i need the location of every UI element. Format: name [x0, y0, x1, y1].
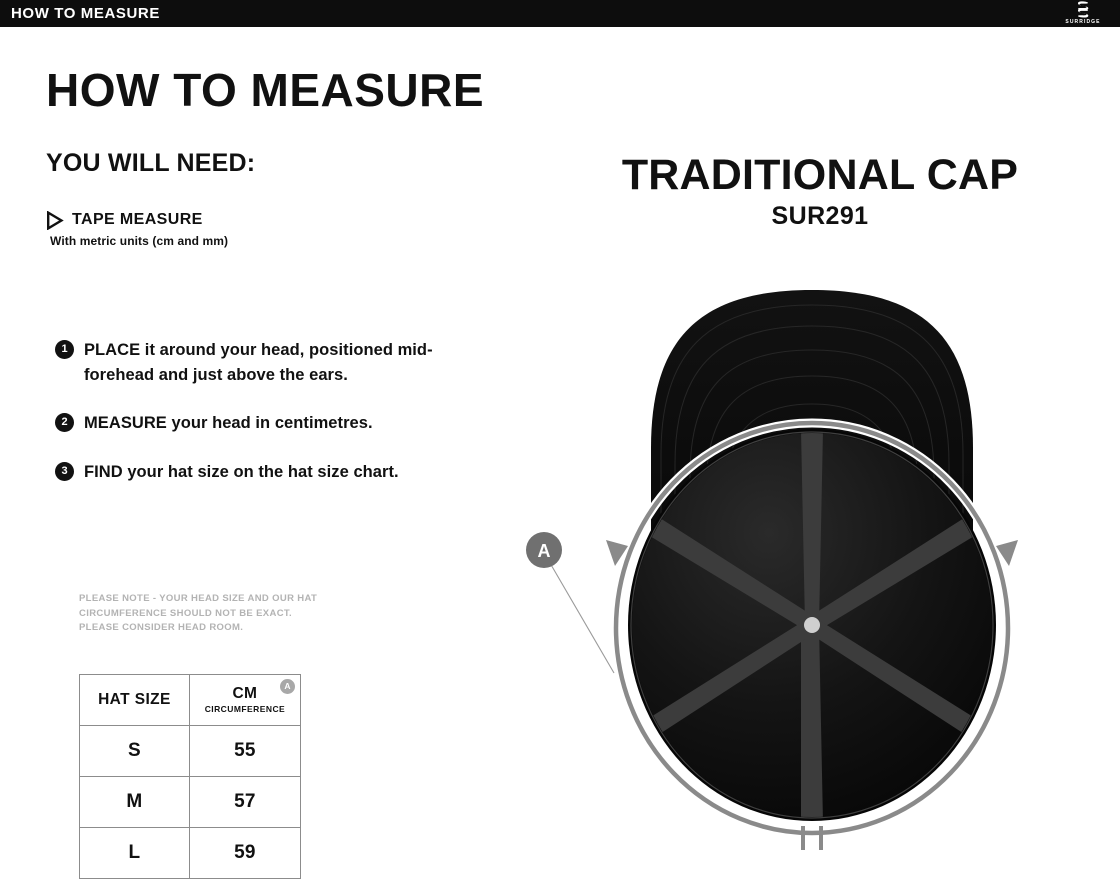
cell-value: 57 [234, 791, 256, 812]
product-code: SUR291 [560, 201, 1080, 231]
step-number-badge: 3 [55, 462, 74, 481]
step-number-badge: 1 [55, 340, 74, 359]
table-header-hat-size-label: HAT SIZE [80, 691, 189, 709]
cap-crown [628, 429, 996, 823]
table-row: M 57 [80, 777, 301, 828]
table-cell-size: M [80, 777, 190, 828]
top-header-bar: HOW TO MEASURE SURRIDGE [0, 0, 1120, 27]
you-will-need-title: YOU WILL NEED: [46, 147, 255, 179]
list-item: 1 PLACE it around your head, positioned … [55, 338, 455, 387]
cell-value: S [128, 740, 141, 761]
surridge-s-monogram-icon [1074, 1, 1092, 18]
cell-value: 55 [234, 740, 256, 761]
table-header-hat-size: HAT SIZE [80, 675, 190, 726]
table-cell-size: L [80, 828, 190, 879]
hat-size-chart: HAT SIZE CM CIRCUMFERENCE A S 55 M 57 L … [79, 674, 301, 879]
table-cell-size: S [80, 726, 190, 777]
list-item: 2 MEASURE your head in centimetres. [55, 411, 455, 436]
table-cell-cm: 57 [189, 777, 300, 828]
step-text: PLACE it around your head, positioned mi… [84, 338, 455, 387]
step-number-badge: 2 [55, 413, 74, 432]
cell-value: M [126, 791, 142, 812]
brand-logo-wordmark: SURRIDGE [1054, 19, 1112, 25]
table-cell-cm: 55 [189, 726, 300, 777]
brand-logo: SURRIDGE [1054, 1, 1112, 26]
page-title: HOW TO MEASURE [46, 62, 484, 118]
play-triangle-icon [46, 211, 64, 230]
crown-button-icon [804, 617, 820, 633]
tool-requirement: TAPE MEASURE With metric units (cm and m… [46, 210, 476, 249]
disclaimer-note: PLEASE NOTE - YOUR HEAD SIZE AND OUR HAT… [79, 592, 409, 636]
table-header-cm-circumference: CM CIRCUMFERENCE A [189, 675, 300, 726]
table-cell-cm: 59 [189, 828, 300, 879]
step-text: FIND your hat size on the hat size chart… [84, 460, 455, 485]
table-header-row: HAT SIZE CM CIRCUMFERENCE A [80, 675, 301, 726]
callout-leader-line [550, 563, 614, 673]
callout-badge-a-label: A [538, 541, 551, 561]
measurement-badge-a: A [280, 679, 295, 694]
header-title: HOW TO MEASURE [11, 6, 160, 22]
cell-value: 59 [234, 842, 256, 863]
cap-illustration-svg: A [510, 278, 1040, 883]
step-text: MEASURE your head in centimetres. [84, 411, 455, 436]
table-header-circumference-label: CIRCUMFERENCE [190, 704, 300, 715]
product-title: TRADITIONAL CAP [560, 150, 1080, 200]
table-row: S 55 [80, 726, 301, 777]
steps-list: 1 PLACE it around your head, positioned … [55, 338, 455, 508]
tool-subtitle: With metric units (cm and mm) [50, 233, 476, 249]
table-row: L 59 [80, 828, 301, 879]
tool-name: TAPE MEASURE [72, 210, 203, 230]
cell-value: L [129, 842, 141, 863]
cap-diagram: A [510, 278, 1040, 883]
list-item: 3 FIND your hat size on the hat size cha… [55, 460, 455, 485]
